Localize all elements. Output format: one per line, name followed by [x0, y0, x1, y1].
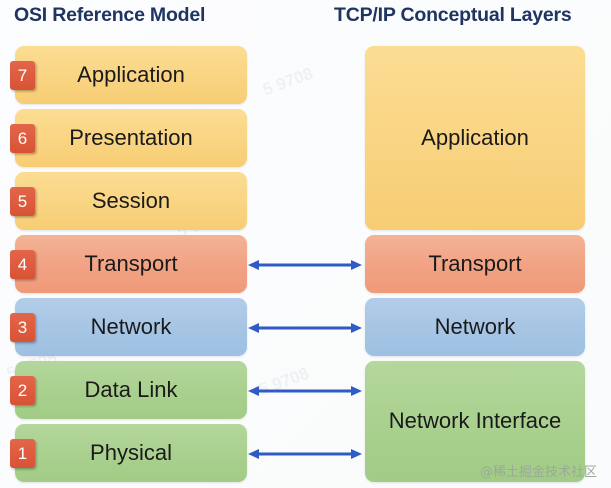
arrow-physical	[248, 447, 362, 461]
background-watermark: 5 9708	[260, 64, 316, 101]
osi-layer-network[interactable]: Network	[15, 298, 247, 356]
osi-column-title: OSI Reference Model	[14, 4, 205, 27]
tcpip-layer-label: Application	[421, 126, 529, 151]
osi-layer-label: Transport	[84, 252, 177, 277]
osi-layer-application[interactable]: Application	[15, 46, 247, 104]
osi-layer-label: Data Link	[85, 378, 178, 403]
osi-layer-badge-7: 7	[10, 61, 35, 90]
osi-layer-label: Network	[91, 315, 172, 340]
osi-layer-badge-2: 2	[10, 376, 35, 405]
osi-layer-data-link[interactable]: Data Link	[15, 361, 247, 419]
double-arrow-icon	[248, 384, 362, 398]
osi-layer-badge-3: 3	[10, 313, 35, 342]
osi-layer-badge-5: 5	[10, 187, 35, 216]
osi-layer-badge-6: 6	[10, 124, 35, 153]
osi-layer-badge-4: 4	[10, 250, 35, 279]
double-arrow-icon	[248, 321, 362, 335]
tcpip-layer-transport[interactable]: Transport	[365, 235, 585, 293]
osi-layer-label: Session	[92, 189, 170, 214]
tcpip-layer-label: Transport	[428, 252, 521, 277]
osi-layer-session[interactable]: Session	[15, 172, 247, 230]
osi-tcpip-diagram: 5 9708 5 9708 5 9708 5 9708 5 9708 5 970…	[0, 0, 611, 488]
tcpip-layer-label: Network Interface	[389, 409, 561, 434]
tcpip-layer-label: Network	[435, 315, 516, 340]
osi-layer-label: Presentation	[69, 126, 193, 151]
arrow-network	[248, 321, 362, 335]
osi-layer-physical[interactable]: Physical	[15, 424, 247, 482]
tcpip-column-title: TCP/IP Conceptual Layers	[334, 4, 572, 27]
osi-layer-presentation[interactable]: Presentation	[15, 109, 247, 167]
tcpip-layer-network[interactable]: Network	[365, 298, 585, 356]
corner-watermark: @稀土掘金技术社区	[480, 461, 597, 480]
double-arrow-icon	[248, 258, 362, 272]
arrow-data-link	[248, 384, 362, 398]
arrow-transport	[248, 258, 362, 272]
double-arrow-icon	[248, 447, 362, 461]
osi-layer-label: Application	[77, 63, 185, 88]
tcpip-layer-application[interactable]: Application	[365, 46, 585, 230]
osi-layer-badge-1: 1	[10, 439, 35, 468]
osi-layer-label: Physical	[90, 441, 172, 466]
osi-layer-transport[interactable]: Transport	[15, 235, 247, 293]
